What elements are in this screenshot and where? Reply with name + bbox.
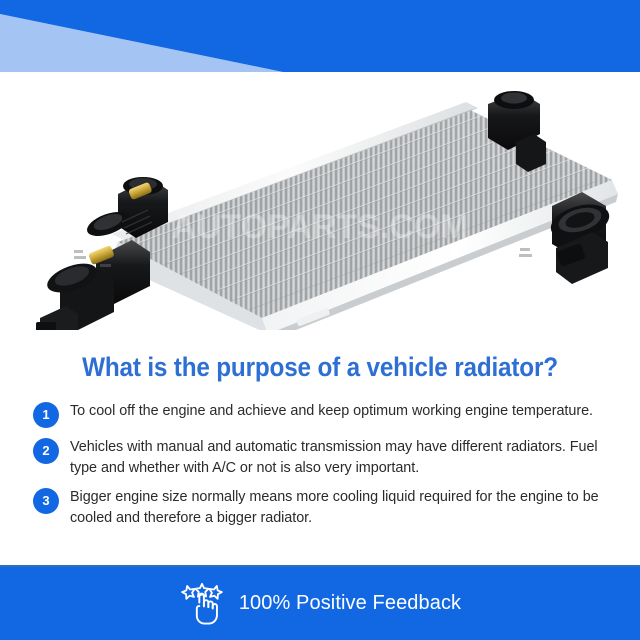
list-number-badge: 1	[33, 402, 59, 428]
list-item-text: To cool off the engine and achieve and k…	[70, 401, 593, 422]
radiator-photo: AUTOPARTS.COM	[0, 72, 640, 330]
radiator-illustration: AUTOPARTS.COM	[0, 72, 640, 330]
list-number-badge: 2	[33, 438, 59, 464]
feedback-banner: 100% Positive Feedback	[0, 565, 640, 640]
feedback-text: 100% Positive Feedback	[239, 592, 461, 615]
feedback-banner-content: 100% Positive Feedback	[179, 581, 461, 627]
page-title: What is the purpose of a vehicle radiato…	[32, 352, 608, 383]
photo-watermark: AUTOPARTS.COM	[171, 208, 468, 246]
list-item: 3 Bigger engine size normally means more…	[33, 487, 607, 528]
product-info-graphic: AUTOPARTS.COM What is the purpose of a v…	[0, 0, 640, 640]
list-item-text: Vehicles with manual and automatic trans…	[70, 437, 607, 478]
list-number-badge: 3	[33, 488, 59, 514]
list-item: 2 Vehicles with manual and automatic tra…	[33, 437, 607, 478]
list-item: 1 To cool off the engine and achieve and…	[33, 401, 607, 428]
answer-list: 1 To cool off the engine and achieve and…	[33, 401, 607, 537]
hand-stars-icon	[179, 581, 225, 627]
list-item-text: Bigger engine size normally means more c…	[70, 487, 607, 528]
